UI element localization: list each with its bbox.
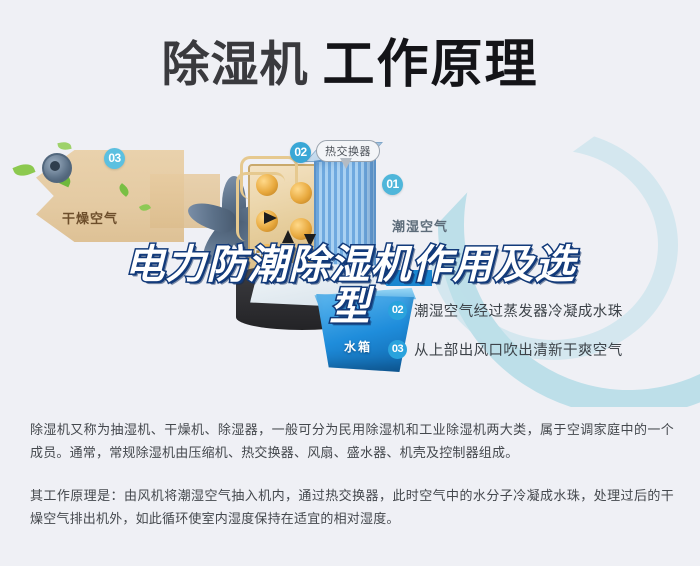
body-paragraph-2: 其工作原理是：由风机将潮湿空气抽入机内，通过热交换器，此时空气中的水分子冷凝成水… xyxy=(30,484,674,530)
fan-hub-core xyxy=(50,161,60,171)
heat-exchanger-callout-tail xyxy=(340,158,352,169)
legend-badge-03: 03 xyxy=(388,340,407,359)
page-title: 除湿机工作原理 xyxy=(0,22,700,97)
badge-01-humid-air: 01 xyxy=(382,174,403,195)
legend-item: 02 潮湿空气经过蒸发器冷凝成水珠 xyxy=(388,300,688,321)
legend-text-02: 潮湿空气经过蒸发器冷凝成水珠 xyxy=(414,300,623,321)
article-body: 除湿机又称为抽湿机、干燥机、除湿器，一般可分为民用除湿机和工业除湿机两大类，属于… xyxy=(30,418,674,530)
leaf-icon xyxy=(12,161,35,180)
body-paragraph-1: 除湿机又称为抽湿机、干燥机、除湿器，一般可分为民用除湿机和工业除湿机两大类，属于… xyxy=(30,418,674,464)
humid-air-label: 潮湿空气 xyxy=(392,216,448,235)
coil-segment xyxy=(290,182,312,204)
page-title-light: 除湿机 xyxy=(161,39,308,92)
legend-list: 02 潮湿空气经过蒸发器冷凝成水珠 03 从上部出风口吹出清新干爽空气 xyxy=(388,300,688,378)
coil-segment xyxy=(256,174,278,196)
compressor-label: 压缩机 xyxy=(254,246,290,262)
water-tank-label: 水箱 xyxy=(344,338,372,355)
leaf-icon xyxy=(57,141,71,151)
badge-02-heat-exchanger: 02 xyxy=(290,142,311,163)
legend-badge-02: 02 xyxy=(388,301,407,320)
airflow-arrow-icon xyxy=(264,212,277,224)
airflow-arrow-icon xyxy=(282,230,294,243)
humid-air-inlet-arrow xyxy=(378,270,432,286)
dry-air-label: 干燥空气 xyxy=(62,208,118,227)
legend-item: 03 从上部出风口吹出清新干爽空气 xyxy=(388,339,688,360)
legend-text-03: 从上部出风口吹出清新干爽空气 xyxy=(414,339,623,360)
page-title-bold: 工作原理 xyxy=(323,36,539,94)
airflow-arrow-icon xyxy=(304,234,316,247)
infographic-page: 除湿机工作原理 干燥空气 xyxy=(0,0,700,566)
badge-03-dry-air: 03 xyxy=(104,148,125,169)
